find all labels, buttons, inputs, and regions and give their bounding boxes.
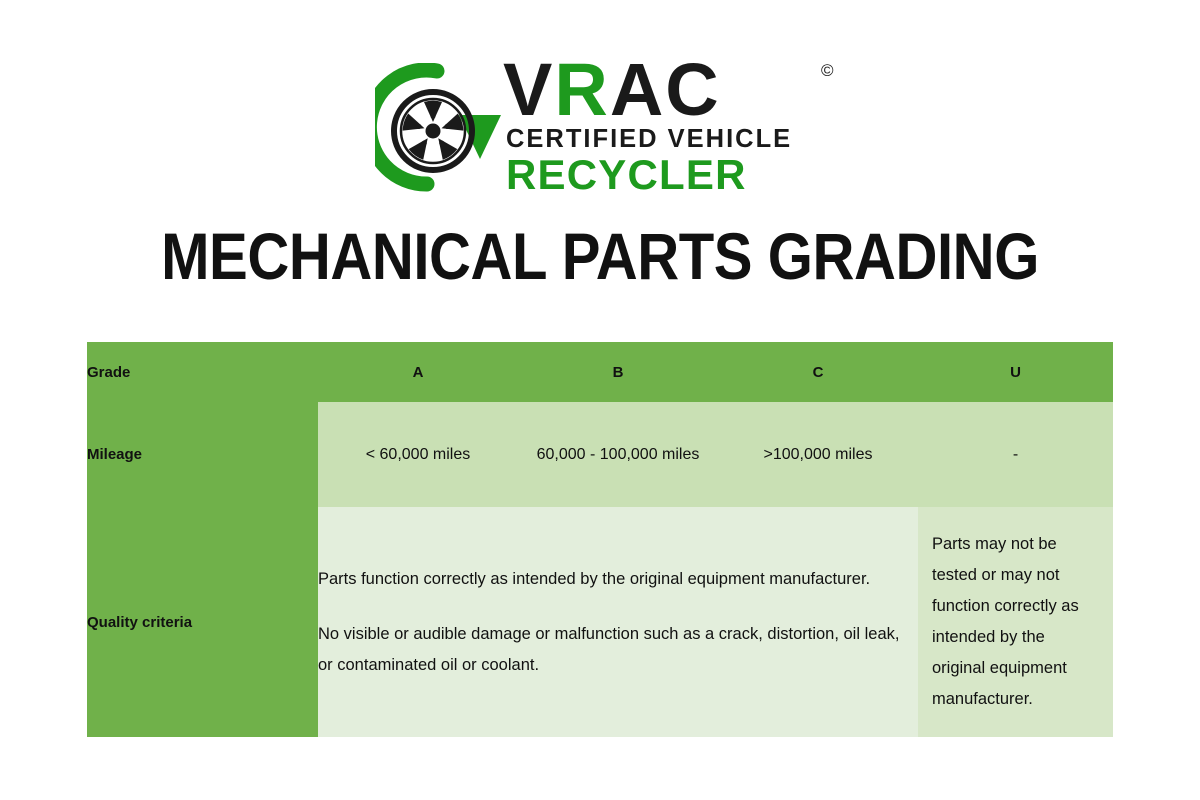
cell-quality-criteria-u: Parts may not be tested or may not funct…: [918, 507, 1113, 737]
row-label-mileage: Mileage: [87, 402, 318, 507]
cell-quality-criteria-abc: Parts function correctly as intended by …: [318, 507, 918, 737]
cell-mileage-c: >100,000 miles: [718, 402, 918, 507]
quality-paragraph-1: Parts function correctly as intended by …: [318, 564, 918, 595]
quality-paragraph-u: Parts may not be tested or may not funct…: [932, 529, 1099, 715]
logo-wordmark: VRAC © CERTIFIED VEHICLE RECYCLER: [503, 55, 848, 200]
logo-vrac-text: VRAC: [503, 53, 721, 127]
table-row: Quality criteria Parts function correctl…: [87, 507, 1113, 737]
table-header-row: Grade A B C U: [87, 342, 1113, 402]
logo-tagline-certified-vehicle: CERTIFIED VEHICLE: [506, 125, 792, 154]
cell-mileage-u: -: [918, 402, 1113, 507]
cell-mileage-a: < 60,000 miles: [318, 402, 518, 507]
copyright-icon: ©: [821, 61, 834, 81]
column-header-c: C: [718, 342, 918, 402]
page-title: MECHANICAL PARTS GRADING: [72, 220, 1128, 292]
mechanical-parts-grading-table: Grade A B C U Mileage < 60,000 miles 60,…: [87, 342, 1113, 737]
column-header-u: U: [918, 342, 1113, 402]
row-label-quality-criteria: Quality criteria: [87, 507, 318, 737]
grading-poster: VRAC © CERTIFIED VEHICLE RECYCLER MECHAN…: [0, 0, 1200, 800]
cell-mileage-b: 60,000 - 100,000 miles: [518, 402, 718, 507]
logo-letters-ac: AC: [610, 48, 721, 131]
table-row: Mileage < 60,000 miles 60,000 - 100,000 …: [87, 402, 1113, 507]
logo-tagline-recycler: RECYCLER: [506, 151, 747, 199]
vrac-logo: VRAC © CERTIFIED VEHICLE RECYCLER: [375, 55, 845, 200]
quality-paragraph-2: No visible or audible damage or malfunct…: [318, 619, 918, 681]
column-header-grade: Grade: [87, 342, 318, 402]
recycle-arrow-wheel-icon: [375, 63, 505, 193]
column-header-a: A: [318, 342, 518, 402]
column-header-b: B: [518, 342, 718, 402]
logo-letter-v: V: [503, 48, 554, 131]
logo-letter-r: R: [554, 48, 609, 131]
